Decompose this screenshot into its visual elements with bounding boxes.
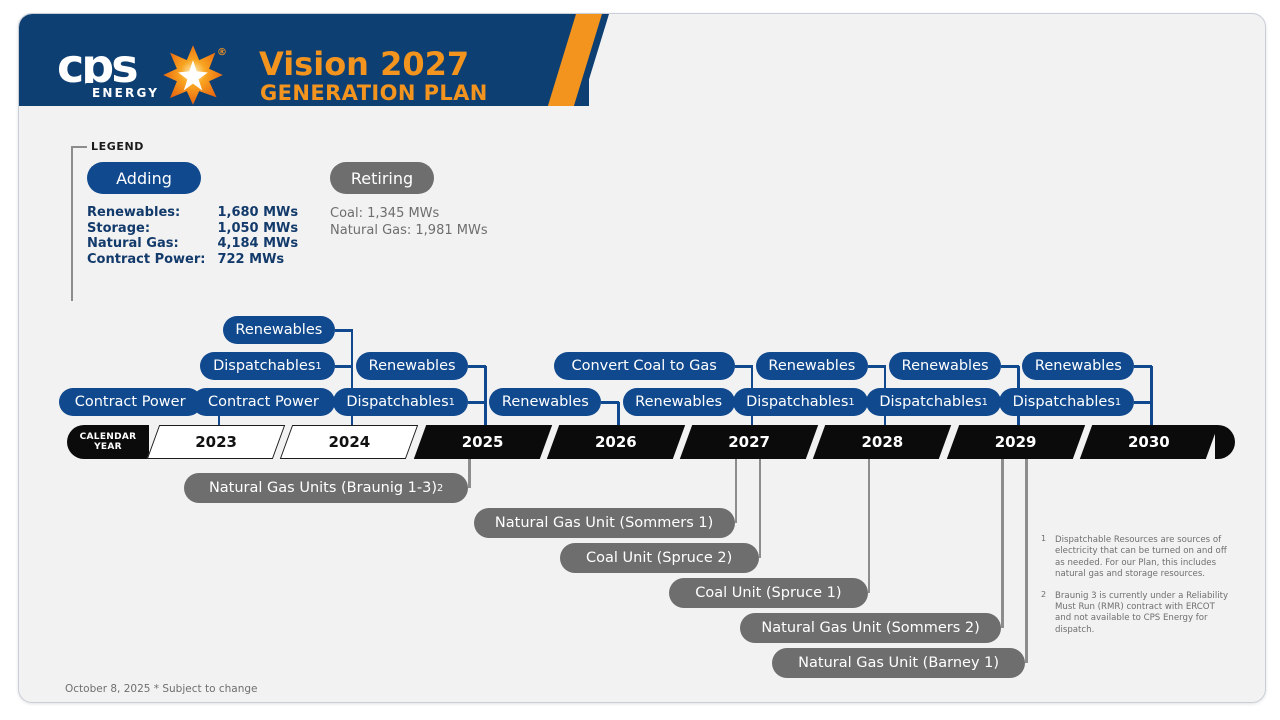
adding-connector-stub <box>1001 365 1019 368</box>
adding-connector-stub <box>468 401 486 404</box>
legend-bracket-top <box>71 146 87 148</box>
legend-adding-value: 722 MWs <box>205 252 298 268</box>
adding-pill-label: Dispatchables <box>879 394 981 410</box>
legend-retiring-stats: Coal: 1,345 MWsNatural Gas: 1,981 MWs <box>330 205 488 239</box>
retiring-pill[interactable]: Natural Gas Units (Braunig 1-3)2 <box>184 473 468 503</box>
retiring-pill[interactable]: Natural Gas Unit (Barney 1) <box>772 648 1025 678</box>
legend-title: LEGEND <box>91 140 144 153</box>
footnotes: 1Dispatchable Resources are sources of e… <box>1041 535 1231 646</box>
cps-logo-energy-text: ENERGY <box>92 86 159 100</box>
footnote-marker: 2 <box>1041 589 1046 600</box>
legend-adding-label: Contract Power: <box>87 252 205 268</box>
adding-pill-label: Renewables <box>502 394 589 410</box>
timeline-year-2028[interactable]: 2028 <box>819 425 945 459</box>
starburst-icon <box>162 44 224 106</box>
calendar-year-axis: CALENDARYEAR2023202420252026202720282029… <box>67 425 1235 459</box>
legend-adding-label: Natural Gas: <box>87 236 205 252</box>
retiring-pill[interactable]: Natural Gas Unit (Sommers 2) <box>740 613 1001 643</box>
retiring-connector-line <box>868 455 871 593</box>
legend-adding-row: Contract Power:722 MWs <box>87 252 298 268</box>
adding-pill[interactable]: Renewables <box>889 352 1001 380</box>
adding-pill-label: Dispatchables <box>213 358 315 374</box>
adding-connector-spine <box>484 366 487 431</box>
retiring-connector-line <box>1025 455 1028 663</box>
adding-pill-label: Renewables <box>902 358 989 374</box>
timeline-year-2029[interactable]: 2029 <box>953 425 1079 459</box>
adding-pill-label: Dispatchables <box>746 394 848 410</box>
adding-pill[interactable]: Renewables <box>489 388 601 416</box>
adding-connector-stub <box>868 365 886 368</box>
infographic-card: cps ENERGY ® Vision 2027 GENERATION PLAN… <box>18 13 1266 703</box>
adding-pill-label: Dispatchables <box>346 394 448 410</box>
adding-pill[interactable]: Dispatchables1 <box>200 352 335 380</box>
legend-adding-label: Renewables: <box>87 205 205 221</box>
adding-pill[interactable]: Renewables <box>623 388 735 416</box>
footnote-ref: 1 <box>1115 397 1121 408</box>
timeline-year-2030[interactable]: 2030 <box>1086 425 1212 459</box>
legend-adding-stats: Renewables:1,680 MWsStorage:1,050 MWsNat… <box>87 205 298 267</box>
adding-connector-stub <box>335 329 353 332</box>
timeline-year-label: 2027 <box>728 433 770 451</box>
retiring-pill-label: Coal Unit (Spruce 1) <box>695 585 841 601</box>
legend-adding-value: 4,184 MWs <box>205 236 298 252</box>
timeline-year-label: 2026 <box>595 433 637 451</box>
calendar-year-line2: YEAR <box>94 442 122 452</box>
adding-connector-stub <box>601 401 619 404</box>
adding-pill-label: Renewables <box>768 358 855 374</box>
legend-bracket <box>71 146 73 301</box>
timeline-year-label: 2025 <box>462 433 504 451</box>
retiring-connector-line <box>735 455 738 523</box>
legend-adding-row: Renewables:1,680 MWs <box>87 205 298 221</box>
legend-adding-row: Natural Gas:4,184 MWs <box>87 236 298 252</box>
adding-pill-label: Contract Power <box>75 394 186 410</box>
calendar-year-label: CALENDARYEAR <box>67 425 149 459</box>
adding-connector-stub <box>735 365 753 368</box>
adding-pill[interactable]: Renewables <box>756 352 868 380</box>
retiring-pill[interactable]: Coal Unit (Spruce 2) <box>560 543 759 573</box>
timeline-year-2027[interactable]: 2027 <box>686 425 812 459</box>
footnote-text: Braunig 3 is currently under a Reliabili… <box>1055 591 1228 635</box>
calendar-year-line1: CALENDAR <box>80 432 137 442</box>
adding-connector-stub <box>335 365 353 368</box>
adding-connector-stub <box>1134 401 1152 404</box>
retiring-pill[interactable]: Natural Gas Unit (Sommers 1) <box>474 508 735 538</box>
adding-pill[interactable]: Dispatchables1 <box>866 388 1001 416</box>
footnote-ref: 1 <box>848 397 854 408</box>
legend-adding-value: 1,050 MWs <box>205 221 298 237</box>
page-subtitle: GENERATION PLAN <box>260 83 488 104</box>
retiring-pill-label: Natural Gas Unit (Barney 1) <box>798 655 999 671</box>
legend-retiring-line: Coal: 1,345 MWs <box>330 205 488 222</box>
registered-trademark-icon: ® <box>217 47 227 58</box>
legend-adding-value: 1,680 MWs <box>205 205 298 221</box>
timeline-year-label: 2030 <box>1128 433 1170 451</box>
retiring-connector-line <box>1001 455 1004 628</box>
footnote-ref: 1 <box>449 397 455 408</box>
adding-pill[interactable]: Contract Power <box>192 388 335 416</box>
adding-pill-label: Contract Power <box>208 394 319 410</box>
adding-pill[interactable]: Dispatchables1 <box>999 388 1134 416</box>
adding-connector-stub <box>468 365 486 368</box>
adding-pill-label: Renewables <box>1035 358 1122 374</box>
legend-adding-row: Storage:1,050 MWs <box>87 221 298 237</box>
legend-retiring-line: Natural Gas: 1,981 MWs <box>330 222 488 239</box>
timeline-year-2026[interactable]: 2026 <box>553 425 679 459</box>
timeline-end-cap <box>1215 425 1235 459</box>
timeline-year-2024[interactable]: 2024 <box>286 425 412 459</box>
adding-pill[interactable]: Dispatchables1 <box>733 388 868 416</box>
legend-retiring-pill: Retiring <box>330 162 434 194</box>
timeline-year-2025[interactable]: 2025 <box>420 425 546 459</box>
footnote-text: Dispatchable Resources are sources of el… <box>1055 535 1227 579</box>
retiring-pill-label: Natural Gas Unit (Sommers 2) <box>761 620 979 636</box>
retiring-pill[interactable]: Coal Unit (Spruce 1) <box>669 578 868 608</box>
footnote-item: 1Dispatchable Resources are sources of e… <box>1041 535 1231 581</box>
adding-pill-label: Renewables <box>635 394 722 410</box>
legend-adding-pill: Adding <box>87 162 201 194</box>
timeline-year-label: 2028 <box>862 433 904 451</box>
adding-pill[interactable]: Dispatchables1 <box>333 388 468 416</box>
retiring-pill-label: Natural Gas Unit (Sommers 1) <box>495 515 713 531</box>
footnote-marker: 1 <box>1041 533 1046 544</box>
timeline-year-label: 2023 <box>195 433 237 451</box>
adding-pill[interactable]: Contract Power <box>59 388 202 416</box>
adding-pill[interactable]: Renewables <box>356 352 468 380</box>
timeline-year-label: 2024 <box>329 433 371 451</box>
legend-adding-label: Storage: <box>87 221 205 237</box>
retiring-connector-line <box>468 455 471 488</box>
adding-pill-label: Renewables <box>235 322 322 338</box>
date-disclaimer: October 8, 2025 * Subject to change <box>65 683 257 695</box>
adding-pill-label: Dispatchables <box>1013 394 1115 410</box>
page-root: cps ENERGY ® Vision 2027 GENERATION PLAN… <box>0 0 1280 720</box>
footnote-ref: 1 <box>315 361 321 372</box>
timeline-year-label: 2029 <box>995 433 1037 451</box>
adding-pill[interactable]: Convert Coal to Gas <box>554 352 735 380</box>
adding-pill-label: Convert Coal to Gas <box>571 358 716 374</box>
footnote-item: 2Braunig 3 is currently under a Reliabil… <box>1041 591 1231 637</box>
adding-connector-spine <box>1150 366 1153 431</box>
footnote-ref: 1 <box>982 397 988 408</box>
retiring-pill-label: Natural Gas Units (Braunig 1-3) <box>209 480 437 496</box>
page-title: Vision 2027 <box>259 48 469 80</box>
retiring-connector-line <box>759 455 762 558</box>
adding-pill[interactable]: Renewables <box>1022 352 1134 380</box>
timeline-year-2023[interactable]: 2023 <box>153 425 279 459</box>
adding-connector-stub <box>1134 365 1152 368</box>
retiring-pill-label: Coal Unit (Spruce 2) <box>586 550 732 566</box>
adding-pill[interactable]: Renewables <box>223 316 335 344</box>
adding-pill-label: Renewables <box>369 358 456 374</box>
footnote-ref: 2 <box>437 483 443 494</box>
